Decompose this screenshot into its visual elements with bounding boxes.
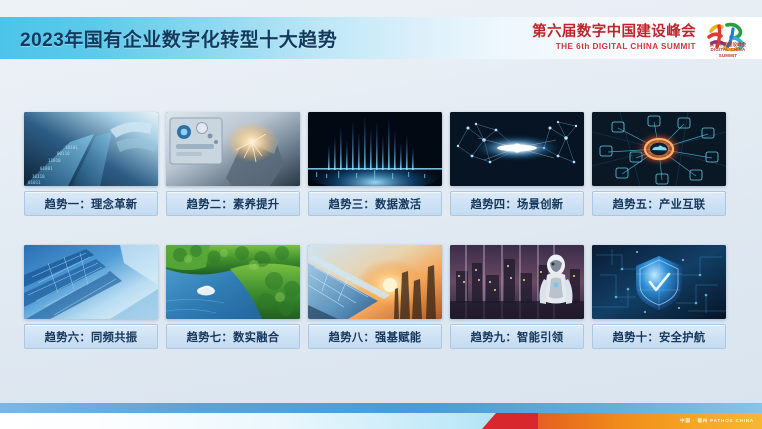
summit-branding: 第六届数字中国建设峰会 THE 6th DIGITAL CHINA SUMMIT bbox=[532, 17, 754, 59]
trend-card-4[interactable]: 趋势四：场景创新 bbox=[450, 112, 584, 216]
svg-text:11010: 11010 bbox=[48, 158, 61, 163]
binary-keyboard-tunnel-image: 1011001001 1101000110 1010101011 bbox=[24, 112, 158, 186]
solar-panel-sunset-image bbox=[308, 245, 442, 319]
trend-card-6[interactable]: 趋势六：同频共振 bbox=[24, 245, 158, 349]
robot-arm-control-panel-image bbox=[166, 112, 300, 186]
footer-red-block bbox=[482, 413, 542, 429]
trend-card-8-label: 趋势八：强基赋能 bbox=[308, 324, 442, 349]
trend-card-4-label: 趋势四：场景创新 bbox=[450, 191, 584, 216]
svg-text:01011: 01011 bbox=[28, 180, 41, 185]
page-title: 2023年国有企业数字化转型十大趋势 bbox=[20, 25, 337, 52]
slide-header: 2023年国有企业数字化转型十大趋势 第六届数字中国建设峰会 THE 6th D… bbox=[0, 17, 762, 59]
humanoid-robot-city-image bbox=[450, 245, 584, 319]
trend-card-10[interactable]: 趋势十：安全护航 bbox=[592, 245, 726, 349]
trend-card-2-label: 趋势二：素养提升 bbox=[166, 191, 300, 216]
svg-text:10110: 10110 bbox=[32, 174, 45, 179]
trend-card-grid: 1011001001 1101000110 1010101011 趋势一：理念革… bbox=[24, 112, 738, 349]
trend-card-5-label: 趋势五：产业互联 bbox=[592, 191, 726, 216]
trend-card-1-label: 趋势一：理念革新 bbox=[24, 191, 158, 216]
solar-panel-array-image bbox=[24, 245, 158, 319]
trend-row-2: 趋势六：同频共振 bbox=[24, 245, 738, 349]
trend-card-7[interactable]: 趋势七：数实融合 bbox=[166, 245, 300, 349]
trend-card-2[interactable]: 趋势二：素养提升 bbox=[166, 112, 300, 216]
footer-blue-band bbox=[0, 403, 762, 413]
svg-text:01001: 01001 bbox=[40, 166, 53, 171]
blue-shield-circuit-image bbox=[592, 245, 726, 319]
trend-card-6-label: 趋势六：同频共振 bbox=[24, 324, 158, 349]
footer-text: 中国 · 福州 PATHOS CHINA bbox=[680, 413, 754, 429]
trend-card-9-label: 趋势九：智能引领 bbox=[450, 324, 584, 349]
summit-text-block: 第六届数字中国建设峰会 THE 6th DIGITAL CHINA SUMMIT bbox=[532, 25, 696, 51]
trend-card-7-label: 趋势七：数实融合 bbox=[166, 324, 300, 349]
glowing-network-burst-image bbox=[450, 112, 584, 186]
trend-card-5[interactable]: 趋势五：产业互联 bbox=[592, 112, 726, 216]
trend-row-1: 1011001001 1101000110 1010101011 趋势一：理念革… bbox=[24, 112, 738, 216]
trend-card-1[interactable]: 1011001001 1101000110 1010101011 趋势一：理念革… bbox=[24, 112, 158, 216]
slide-footer: 中国 · 福州 PATHOS CHINA bbox=[0, 403, 762, 429]
logo-subtitle: 数字中国建设峰会 DIGITAL CHINA SUMMIT bbox=[704, 42, 752, 59]
trend-card-3-label: 趋势三：数据激活 bbox=[308, 191, 442, 216]
blue-data-waveform-image bbox=[308, 112, 442, 186]
summit-title-en: THE 6th DIGITAL CHINA SUMMIT bbox=[556, 43, 696, 51]
green-forest-river-image bbox=[166, 245, 300, 319]
trend-card-10-label: 趋势十：安全护航 bbox=[592, 324, 726, 349]
svg-text:10101: 10101 bbox=[65, 145, 78, 150]
digital-china-summit-logo-icon: 数字中国建设峰会 DIGITAL CHINA SUMMIT bbox=[702, 18, 754, 58]
trend-card-3[interactable]: 趋势三：数据激活 bbox=[308, 112, 442, 216]
trend-card-9[interactable]: 趋势九：智能引领 bbox=[450, 245, 584, 349]
cloud-hub-iot-network-image bbox=[592, 112, 726, 186]
trend-card-8[interactable]: 趋势八：强基赋能 bbox=[308, 245, 442, 349]
slide-root: 2023年国有企业数字化转型十大趋势 第六届数字中国建设峰会 THE 6th D… bbox=[0, 0, 762, 429]
summit-title-cn: 第六届数字中国建设峰会 bbox=[532, 25, 696, 40]
svg-text:00110: 00110 bbox=[57, 151, 70, 156]
